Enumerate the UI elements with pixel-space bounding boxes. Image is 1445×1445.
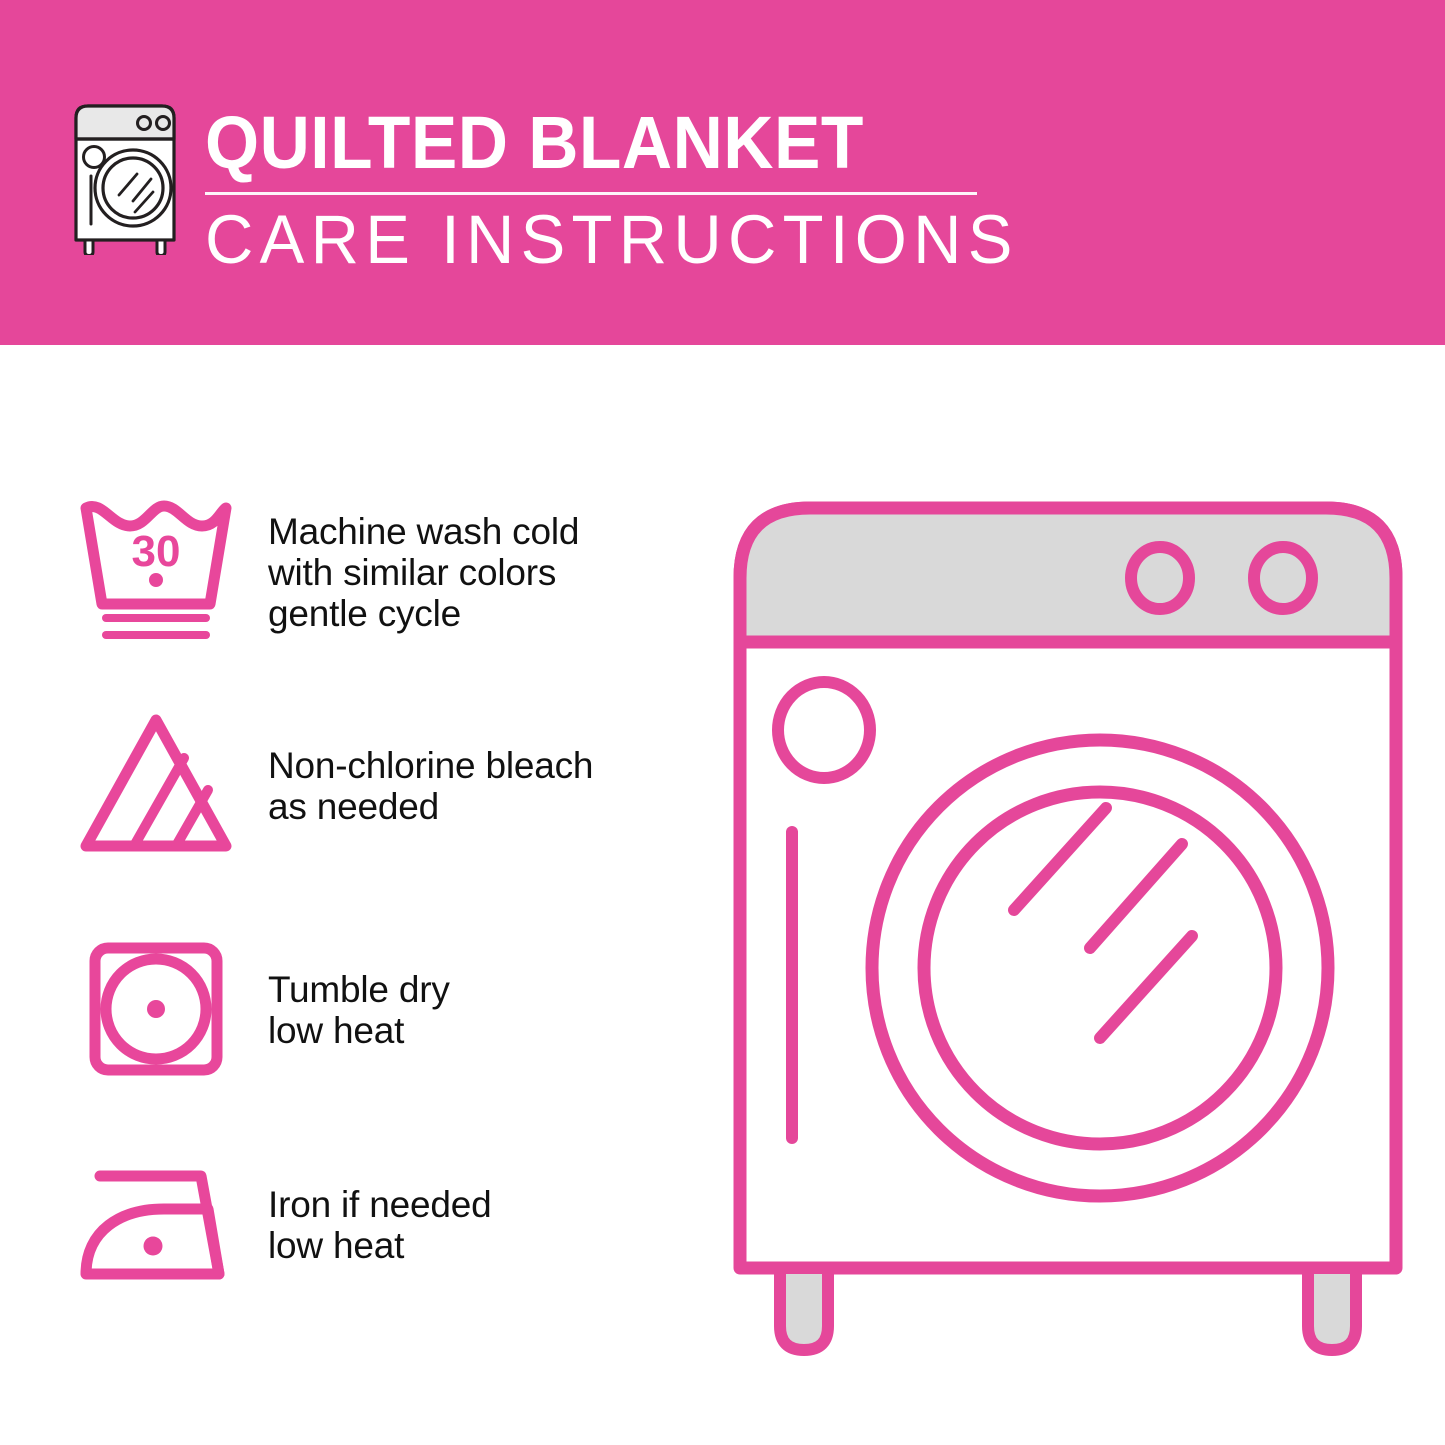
care-instructions-page: QUILTED BLANKET CARE INSTRUCTIONS 30 Mac… — [0, 0, 1445, 1445]
care-label: Non-chlorine bleach as needed — [268, 745, 593, 827]
care-label: Tumble dry low heat — [268, 969, 450, 1051]
title-divider — [205, 192, 977, 195]
care-row: Tumble dry low heat — [0, 930, 700, 1090]
care-label: Machine wash cold with similar colors ge… — [268, 511, 579, 634]
care-label: Iron if needed low heat — [268, 1184, 491, 1266]
wash-temp-value: 30 — [132, 527, 181, 576]
iron-low-heat-icon — [68, 1145, 244, 1305]
header-band: QUILTED BLANKET CARE INSTRUCTIONS — [0, 0, 1445, 345]
tumble-dry-low-icon — [68, 930, 244, 1090]
washer-knob-right — [1254, 547, 1312, 609]
page-subtitle: CARE INSTRUCTIONS — [205, 202, 962, 278]
care-row: Non-chlorine bleach as needed — [0, 706, 700, 866]
wash-tub-30-gentle-icon: 30 — [68, 492, 244, 652]
care-row: 30 Machine wash cold with similar colors… — [0, 492, 700, 652]
non-chlorine-bleach-triangle-icon — [68, 706, 244, 866]
washer-leg-right — [1308, 1268, 1356, 1350]
washing-machine-icon — [62, 100, 188, 255]
front-load-washing-machine-illustration — [718, 478, 1418, 1368]
washer-leg-left — [780, 1268, 828, 1350]
header-text-block: QUILTED BLANKET CARE INSTRUCTIONS — [205, 103, 985, 278]
washer-knob-left — [1131, 547, 1189, 609]
care-row: Iron if needed low heat — [0, 1145, 700, 1305]
page-title: QUILTED BLANKET — [205, 103, 938, 183]
